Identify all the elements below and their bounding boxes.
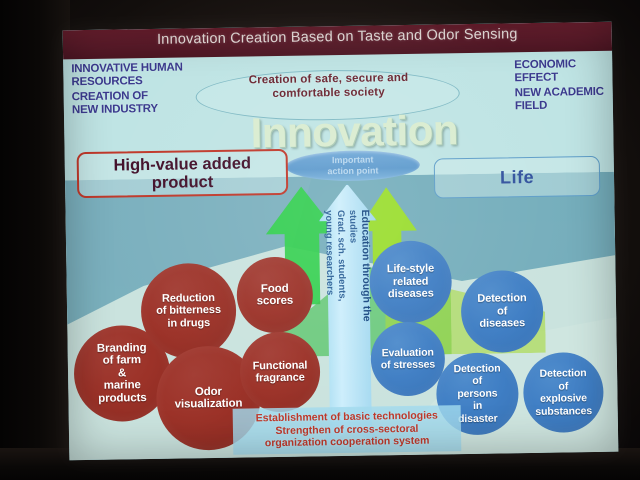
education-arrow-line-3: Grad. sch. students, (335, 188, 348, 301)
education-arrow-line-4: young researchers (323, 188, 336, 295)
corner-label-innovative-human-resources: INNOVATIVE HUMANRESOURCES (71, 61, 183, 88)
high-value-added-product-box: High-value addedproduct (77, 149, 289, 198)
projected-slide: Innovation Creation Based on Taste and O… (63, 22, 619, 461)
room-wall-left-shadow (0, 0, 70, 480)
corner-label-creation-of-new-industry: CREATION OFNEW INDUSTRY (72, 90, 158, 116)
slide-title: Innovation Creation Based on Taste and O… (63, 25, 612, 50)
screenshot-root: Innovation Creation Based on Taste and O… (0, 0, 640, 480)
education-arrow-text-group: young researchers Grad. sch. students, s… (318, 187, 378, 438)
life-box: Life (434, 156, 601, 199)
important-action-point-label: Importantaction point (286, 154, 420, 177)
bottom-banner: Establishment of basic technologiesStren… (233, 405, 462, 455)
vision-ellipse-label: Creation of safe, secure andcomfortable … (203, 71, 453, 102)
education-arrow-line-2: studies (347, 188, 359, 243)
corner-label-new-academic-field: NEW ACADEMICFIELD (515, 86, 605, 112)
education-arrow-line-1: Education through the (359, 188, 372, 322)
corner-label-economic-effect: ECONOMICEFFECT (514, 58, 576, 84)
